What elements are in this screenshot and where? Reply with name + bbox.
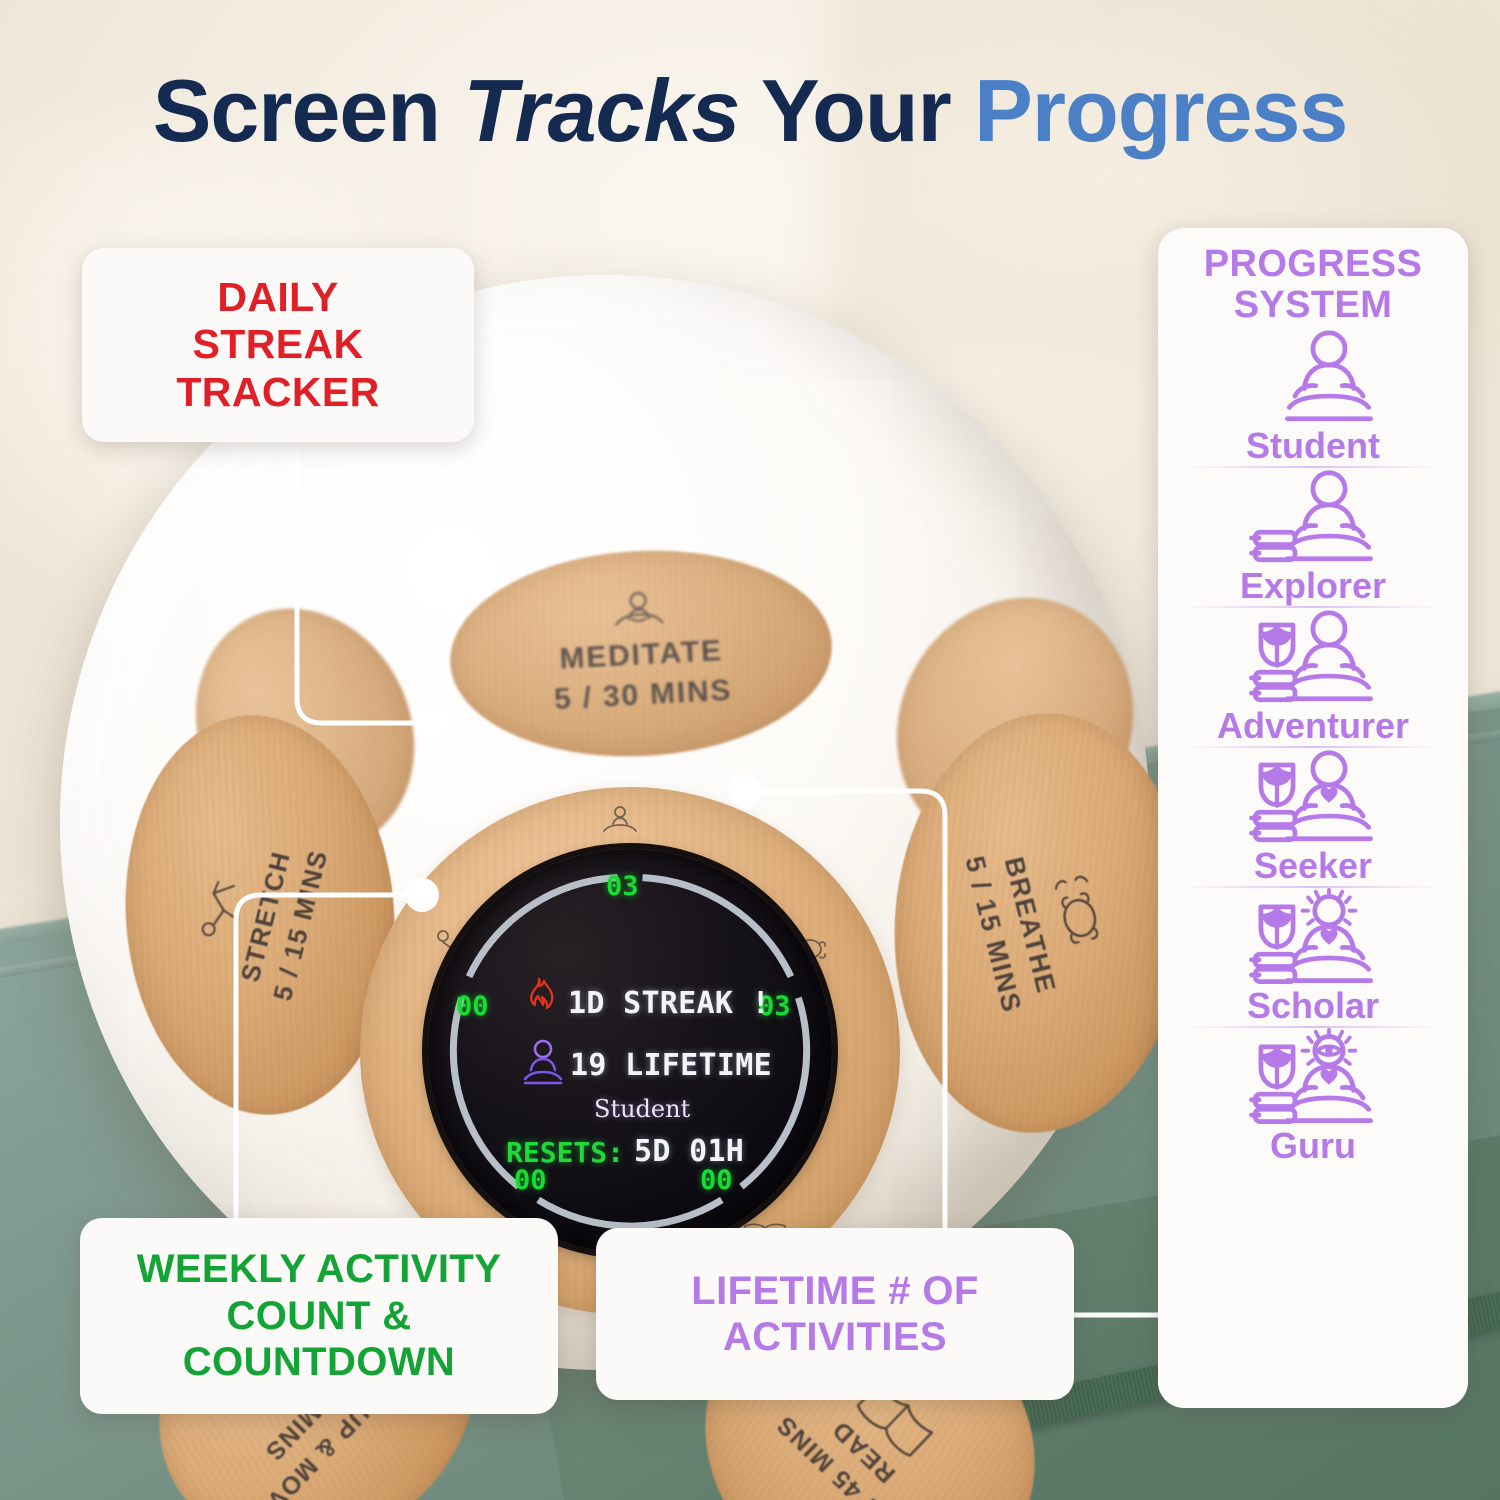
meditator-books-plant-heart-thirdeye-icon bbox=[1242, 1028, 1384, 1132]
face-stretch-engraving: STRETCH 5 / 15 MINS bbox=[183, 825, 338, 1004]
progress-level-scholar-label: Scholar bbox=[1247, 988, 1379, 1024]
face-breathe-engraving: BREATHE 5 / 15 MINS bbox=[955, 829, 1125, 1017]
progress-title-line2: SYSTEM bbox=[1234, 284, 1393, 326]
meditator-books-plant-heart-sun-icon bbox=[1242, 888, 1384, 992]
counter-read: 00 bbox=[700, 1167, 733, 1194]
face-meditate-duration: 5 / 30 MINS bbox=[553, 674, 733, 716]
progress-level-guru[interactable]: Guru bbox=[1166, 1028, 1460, 1168]
headline-word-progress: Progress bbox=[974, 61, 1347, 160]
callout-streak-line1: DAILY bbox=[217, 274, 338, 320]
meditator-plain-icon bbox=[1242, 328, 1384, 432]
callout-weekly-line1: WEEKLY ACTIVITY bbox=[137, 1247, 502, 1291]
resets-label: RESETS: bbox=[506, 1139, 624, 1167]
progress-level-guru-label: Guru bbox=[1270, 1128, 1356, 1164]
progress-level-seeker[interactable]: Seeker bbox=[1166, 748, 1460, 888]
rank-readout: Student bbox=[594, 1097, 690, 1121]
progress-level-scholar[interactable]: Scholar bbox=[1166, 888, 1460, 1028]
page-title: Screen Tracks Your Progress bbox=[0, 60, 1500, 162]
progress-level-explorer[interactable]: Explorer bbox=[1166, 468, 1460, 608]
progress-level-adventurer-label: Adventurer bbox=[1217, 708, 1409, 744]
callout-streak-line3: TRACKER bbox=[176, 369, 379, 415]
callout-daily-streak-tracker: DAILY STREAK TRACKER bbox=[82, 248, 474, 442]
meditator-books-plant-heart-icon bbox=[1242, 748, 1384, 852]
progress-level-student-label: Student bbox=[1246, 428, 1380, 464]
progress-system-panel: PROGRESS SYSTEM Student bbox=[1158, 228, 1468, 1408]
streak-readout: 1D STREAK ! bbox=[568, 989, 770, 1019]
lifetime-readout: 19 LIFETIME bbox=[570, 1051, 772, 1081]
headline-word-your: Your bbox=[761, 61, 951, 160]
counter-meditate: 03 bbox=[606, 873, 639, 900]
meditator-books-plant-icon bbox=[1242, 608, 1384, 712]
resets-value: 5D 01H bbox=[634, 1137, 744, 1167]
progress-title-line1: PROGRESS bbox=[1204, 243, 1422, 285]
progress-system-title: PROGRESS SYSTEM bbox=[1204, 244, 1422, 326]
counter-move: 00 bbox=[514, 1167, 547, 1194]
device-face-meditate[interactable]: MEDITATE 5 / 30 MINS bbox=[445, 541, 837, 766]
progress-level-adventurer[interactable]: Adventurer bbox=[1166, 608, 1460, 748]
callout-weekly-line3: COUNTDOWN bbox=[183, 1340, 455, 1384]
face-meditate-engraving: MEDITATE 5 / 30 MINS bbox=[549, 586, 734, 720]
oled-display[interactable]: 03 00 03 00 00 bbox=[428, 849, 832, 1253]
counter-stretch: 00 bbox=[456, 993, 489, 1020]
progress-level-seeker-label: Seeker bbox=[1254, 848, 1372, 884]
progress-level-explorer-label: Explorer bbox=[1240, 568, 1386, 604]
headline-word-screen: Screen bbox=[153, 61, 440, 160]
callout-lifetime-line2: ACTIVITIES bbox=[723, 1315, 947, 1359]
headline-word-tracks: Tracks bbox=[463, 61, 739, 160]
face-meditate-name: MEDITATE bbox=[559, 634, 724, 676]
callout-weekly-line2: COUNT & bbox=[226, 1294, 411, 1338]
callout-weekly-activity: WEEKLY ACTIVITY COUNT & COUNTDOWN bbox=[80, 1218, 558, 1414]
ring-meditate-icon bbox=[600, 805, 640, 843]
meditator-books-icon bbox=[1242, 468, 1384, 572]
callout-streak-line2: STREAK bbox=[192, 321, 363, 367]
callout-lifetime-activities: LIFETIME # OF ACTIVITIES bbox=[596, 1228, 1074, 1400]
marketing-image: MEDITATE 5 / 30 MINS STRETCH 5 / 15 MINS bbox=[0, 0, 1500, 1500]
progress-level-student[interactable]: Student bbox=[1166, 328, 1460, 468]
callout-lifetime-line1: LIFETIME # OF bbox=[691, 1269, 978, 1313]
